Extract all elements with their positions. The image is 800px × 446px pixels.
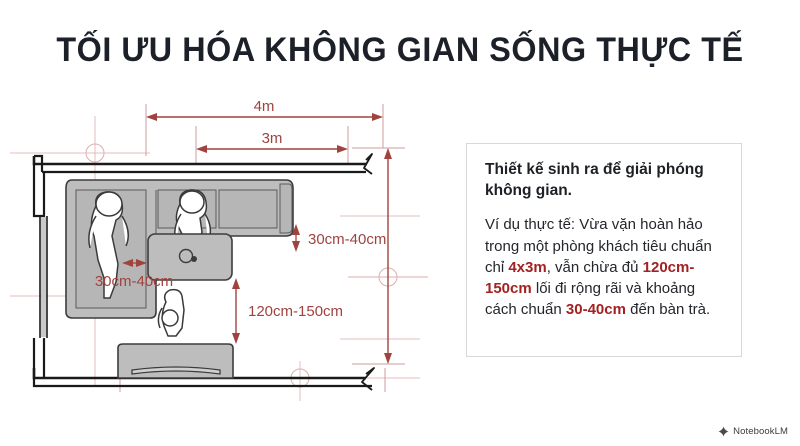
panel-body-tail: đến bàn trà.: [626, 301, 710, 318]
dimension-label-inner-width: 3m: [262, 130, 283, 147]
tv-console: [118, 344, 233, 378]
dimension-walkway: 120cm-150cm: [232, 278, 343, 344]
panel-body-mid1: , vẫn chừa đủ: [547, 259, 643, 276]
infographic-page: TỐI ƯU HÓA KHÔNG GIAN SỐNG THỰC TẾ: [0, 0, 800, 446]
panel-heading: Thiết kế sinh ra để giải phóng không gia…: [485, 160, 723, 201]
floor-plan-diagram: 4m 3m: [0, 86, 466, 406]
highlight-gap: 30-40cm: [566, 301, 626, 318]
highlight-room-size: 4x3m: [508, 259, 546, 276]
dimension-sofa-gap: 30cm-40cm: [292, 224, 386, 252]
page-title: TỐI ƯU HÓA KHÔNG GIAN SỐNG THỰC TẾ: [20, 31, 780, 70]
dimension-label-sofa-gap: 30cm-40cm: [308, 231, 386, 248]
window-glazing: [41, 217, 46, 337]
dimension-3m: 3m: [196, 130, 348, 153]
watermark: NotebookLM: [718, 426, 788, 437]
dimension-label-table-gap: 30cm-40cm: [95, 273, 173, 290]
person-figure-standing: [158, 290, 184, 336]
dimension-label-walkway: 120cm-150cm: [248, 303, 343, 320]
dimension-4m: 4m: [146, 98, 383, 121]
panel-body: Ví dụ thực tế: Vừa vặn hoàn hảo trong mộ…: [485, 214, 723, 320]
watermark-label: NotebookLM: [733, 426, 788, 437]
info-panel: Thiết kế sinh ra để giải phóng không gia…: [466, 143, 742, 357]
notebooklm-logo-icon: [718, 426, 729, 437]
dimension-right-vertical: [384, 148, 392, 364]
dimension-label-outer-width: 4m: [254, 98, 275, 115]
